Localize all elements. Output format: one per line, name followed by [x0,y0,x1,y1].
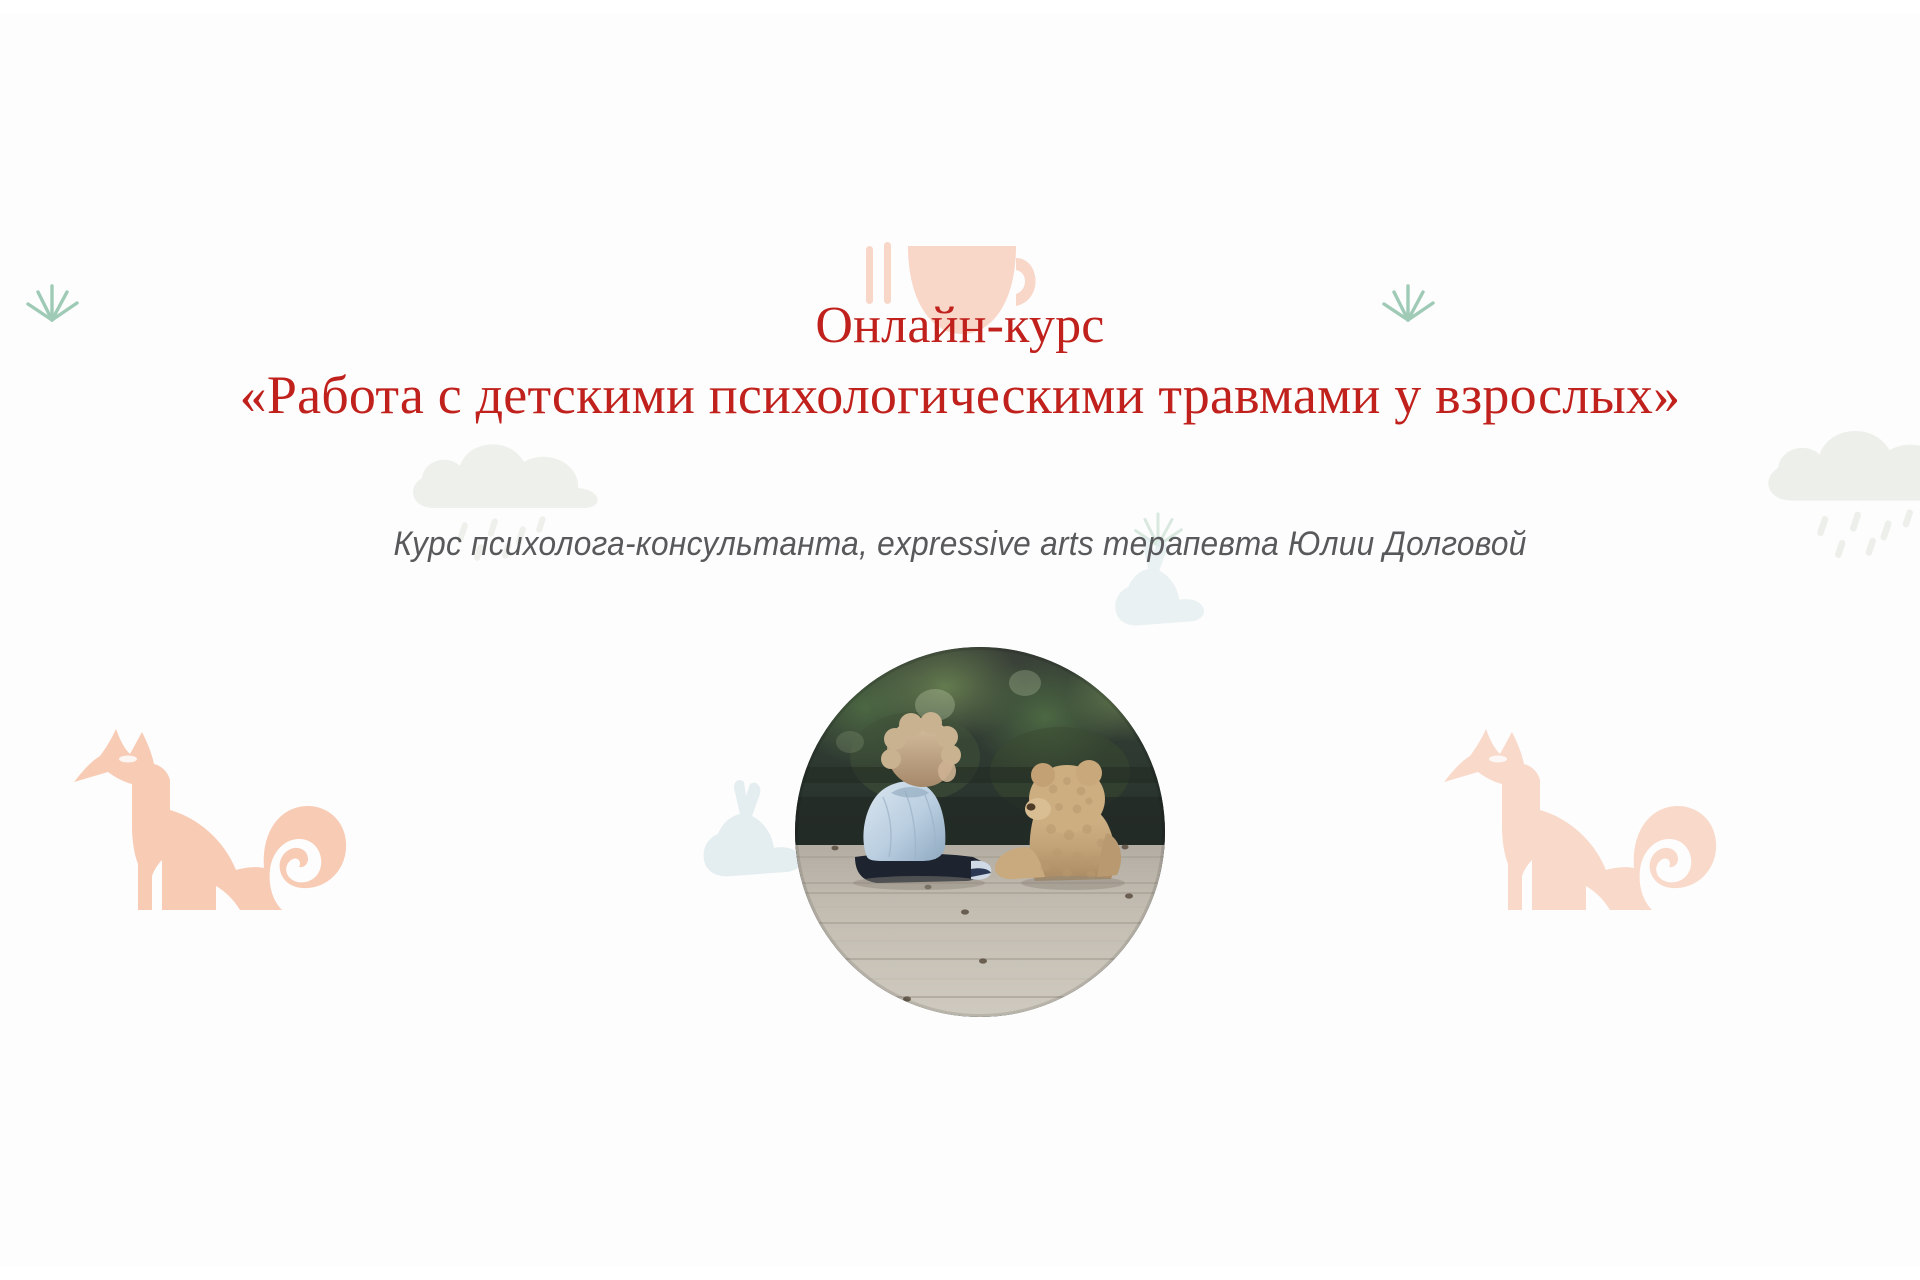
top-letterbox-band [0,0,1920,14]
title-block: Онлайн-курс «Работа с детскими психологи… [0,296,1920,428]
rabbit-left-icon [700,776,810,881]
course-title-line-1: Онлайн-курс [0,296,1920,356]
bottom-letterbox-band [0,1266,1920,1280]
slide-canvas: Онлайн-курс «Работа с детскими психологи… [0,14,1920,1266]
course-photo [795,647,1165,1017]
child-and-teddy-bear-illustration [795,647,1165,1017]
course-title-line-2: «Работа с детскими психологическими трав… [0,362,1920,428]
promo-slide: Онлайн-курс «Работа с детскими психологи… [0,0,1920,1280]
photo-circle-mask [795,647,1165,1017]
course-subtitle: Курс психолога-консультанта, expressive … [67,522,1853,566]
fox-left-icon [58,714,348,949]
fox-right-icon [1428,714,1718,949]
